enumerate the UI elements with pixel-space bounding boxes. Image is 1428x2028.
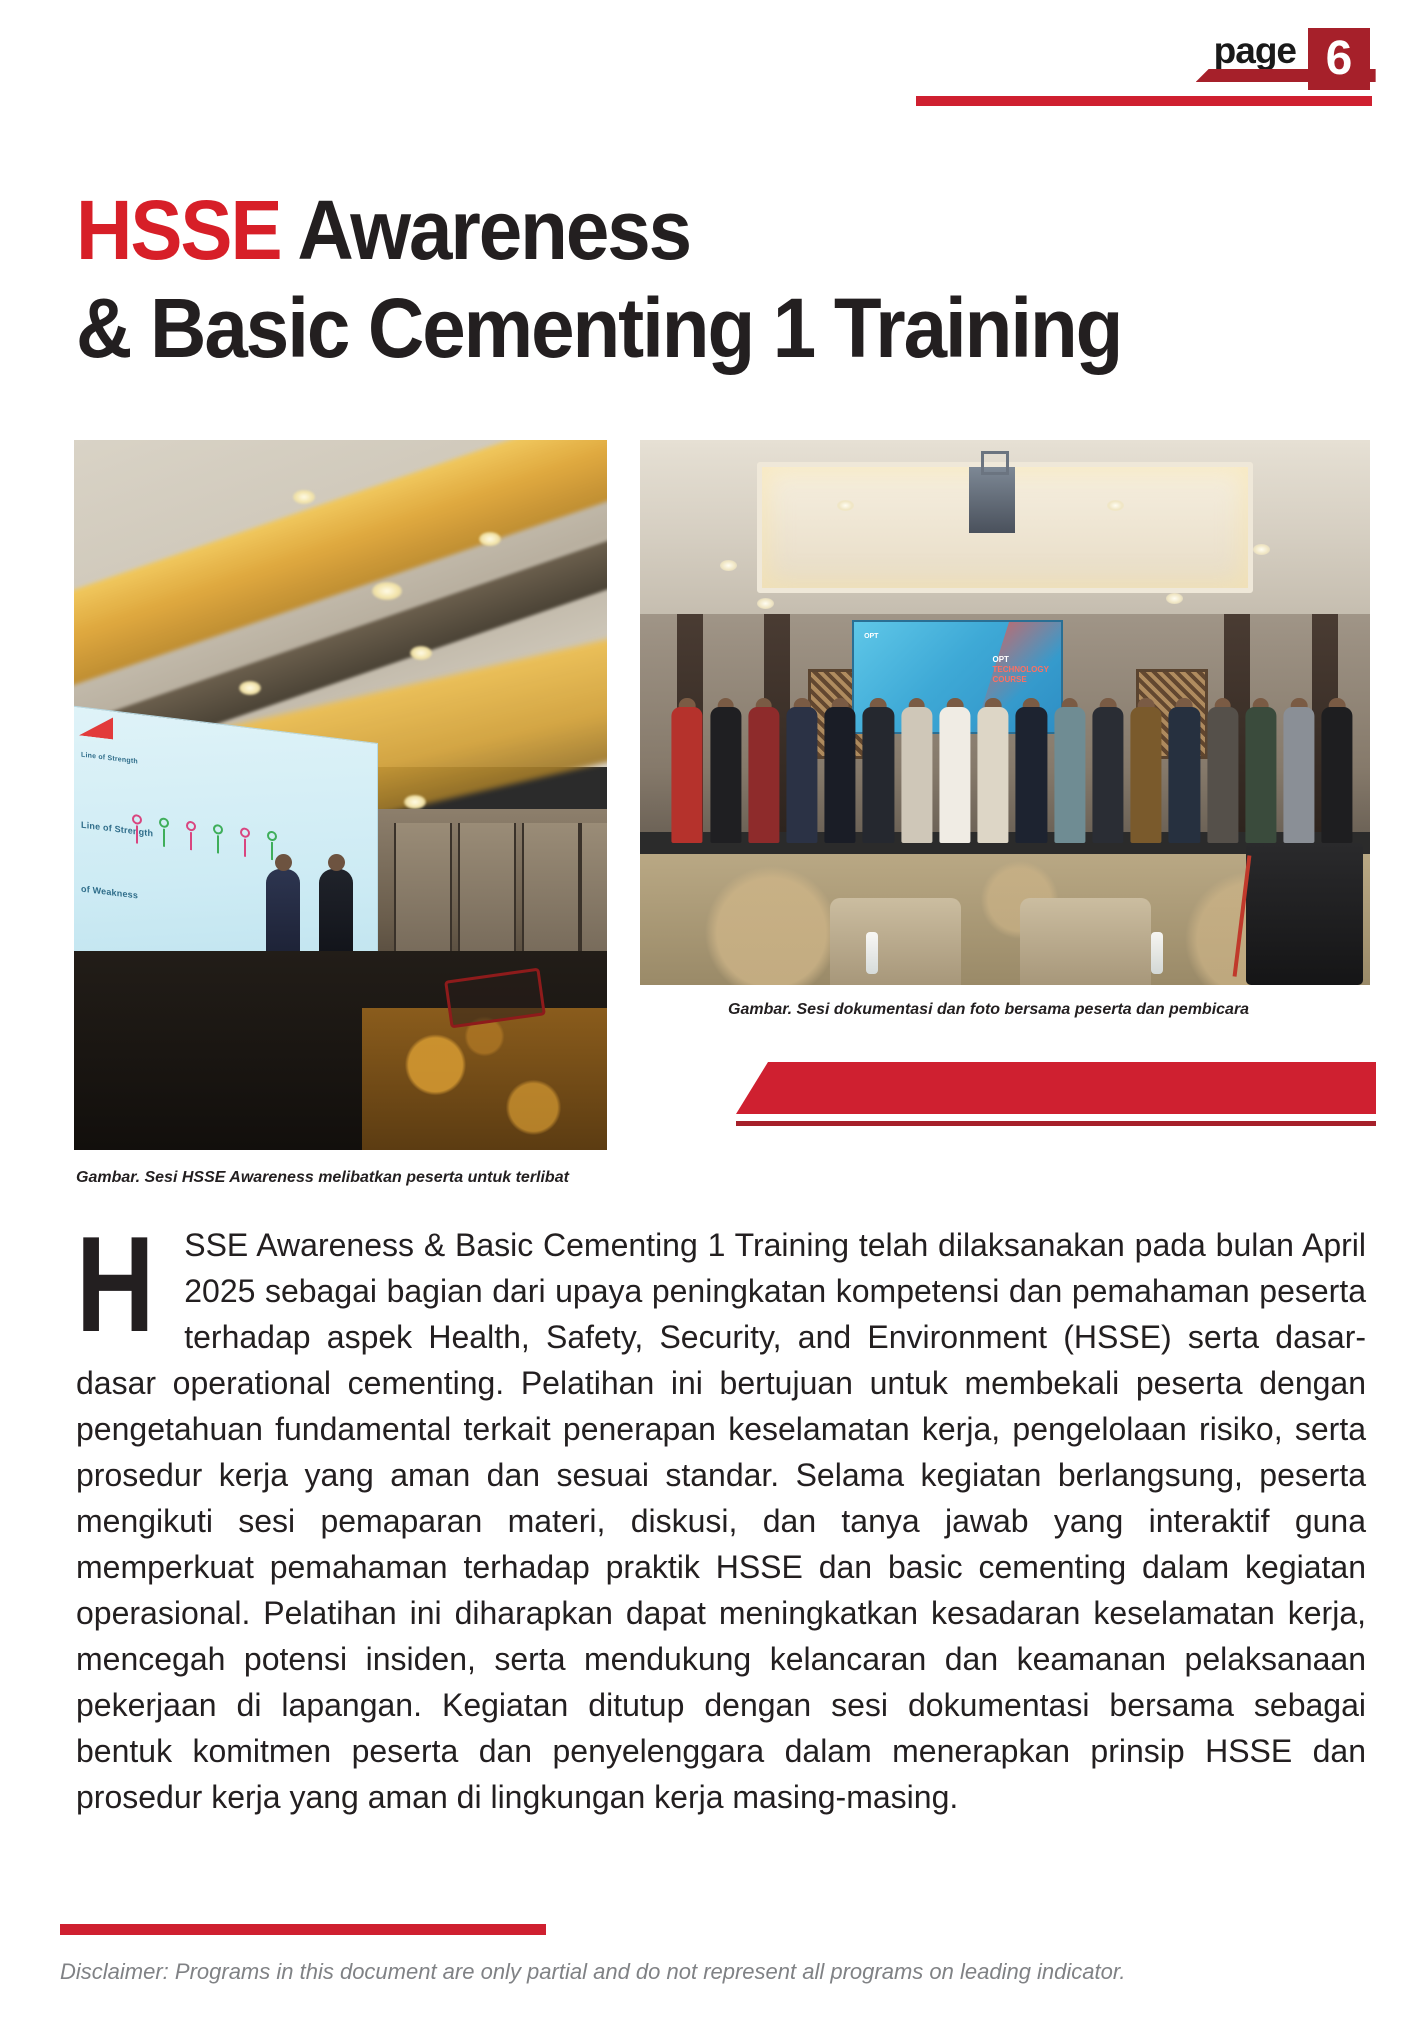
title-highlight: HSSE [76, 183, 281, 277]
participant [1013, 669, 1049, 843]
right-photo-bottle [866, 932, 878, 974]
right-photo-downlight [1166, 593, 1183, 604]
figure-left-photo: Line of Strength Line of Strength of Wea… [74, 440, 607, 1150]
participant [822, 669, 858, 843]
left-photo-downlight [404, 795, 426, 809]
participant [1319, 669, 1355, 843]
participant [899, 669, 935, 843]
figure-right-caption: Gambar. Sesi dokumentasi dan foto bersam… [728, 1000, 1249, 1020]
participant [707, 669, 743, 843]
banner-rule [736, 1121, 1376, 1126]
figure-left-caption: Gambar. Sesi HSSE Awareness melibatkan p… [76, 1168, 569, 1188]
decorative-banner [736, 1062, 1376, 1126]
right-photo-downlight [1253, 544, 1270, 555]
page-number: 6 [1326, 35, 1353, 83]
right-photo-chair [1020, 898, 1151, 985]
header-rule [916, 96, 1372, 106]
page-number-box: 6 [1308, 28, 1370, 90]
left-photo-downlight [410, 646, 432, 660]
participant [860, 669, 896, 843]
left-photo-slide-footer: of Weakness [81, 884, 138, 901]
right-photo-downlight [757, 598, 774, 609]
right-photo-projector [969, 467, 1015, 533]
right-photo-downlight [837, 500, 854, 511]
stick-figure-icon [210, 823, 226, 865]
page-label-group: page [1214, 31, 1306, 71]
banner-shape [736, 1062, 1376, 1114]
article-body: HSSE Awareness & Basic Cementing 1 Train… [76, 1222, 1366, 1820]
article-dropcap: H [76, 1228, 155, 1340]
title-line-1: HSSE Awareness [76, 188, 1276, 272]
left-photo-slide-heading: Line of Strength [81, 752, 138, 766]
participant [746, 669, 782, 843]
participant [1090, 669, 1126, 843]
page-title: HSSE Awareness & Basic Cementing 1 Train… [76, 188, 1366, 370]
participant [1243, 669, 1279, 843]
left-photo-slide-figures [129, 813, 280, 872]
right-photo-bottle [1151, 932, 1163, 974]
participant [784, 669, 820, 843]
participant [937, 669, 973, 843]
right-photo-chair [830, 898, 961, 985]
newsletter-page: page 6 HSSE Awareness & Basic Cementing … [0, 0, 1428, 2028]
participant [1281, 669, 1317, 843]
right-photo-equipment-case [1246, 843, 1363, 985]
participant [1052, 669, 1088, 843]
left-photo-downlight [293, 490, 315, 504]
right-photo-participants [669, 669, 1355, 843]
title-line-2: & Basic Cementing 1 Training [76, 286, 1276, 370]
right-photo-slide-brand: OPT [864, 633, 878, 640]
figure-right-photo: OPT OPT TECHNOLOGY COURSE [640, 440, 1370, 985]
participant [1204, 669, 1240, 843]
left-photo-slide-accent [79, 713, 113, 739]
right-photo-slide-line-1: OPT [992, 655, 1048, 665]
right-photo-downlight [720, 560, 737, 571]
title-line-1-rest: Awareness [281, 183, 690, 277]
page-label: page [1214, 31, 1306, 71]
right-photo-downlight [1107, 500, 1124, 511]
stick-figure-icon [156, 817, 172, 859]
participant [669, 669, 705, 843]
participant [1128, 669, 1164, 843]
footer-rule [60, 1924, 546, 1935]
stick-figure-icon [183, 820, 199, 862]
stick-figure-icon [237, 827, 253, 869]
disclaimer-text: Disclaimer: Programs in this document ar… [60, 1958, 1126, 1986]
article-text: SSE Awareness & Basic Cementing 1 Traini… [76, 1227, 1366, 1815]
participant [1166, 669, 1202, 843]
stick-figure-icon [129, 813, 145, 855]
page-header: page 6 [0, 0, 1428, 110]
participant [975, 669, 1011, 843]
left-photo-carpet [362, 1008, 607, 1150]
